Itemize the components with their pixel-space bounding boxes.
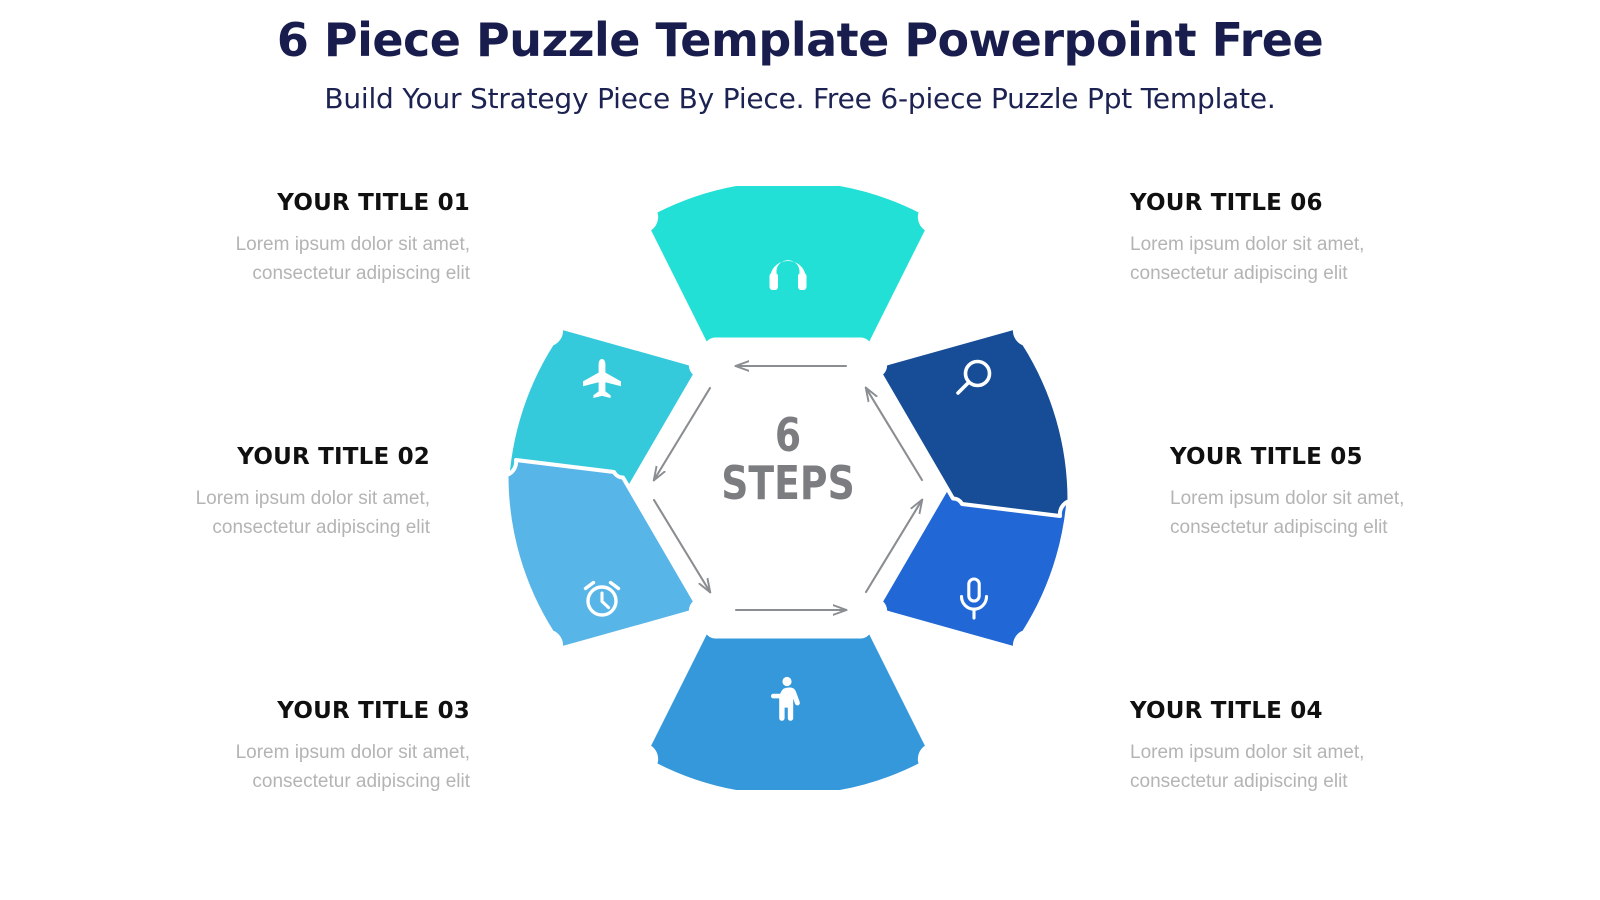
segment-3-title: YOUR TITLE 03 [140,698,470,724]
segment-6-shape[interactable] [881,327,1070,516]
segment-6-title: YOUR TITLE 06 [1130,190,1460,216]
segment-2-label[interactable]: YOUR TITLE 02 Lorem ipsum dolor sit amet… [100,444,430,543]
segment-4-title: YOUR TITLE 04 [1130,698,1460,724]
segment-6-body: Lorem ipsum dolor sit amet, consectetur … [1130,230,1460,289]
segment-4[interactable] [649,631,928,791]
page-subtitle: Build Your Strategy Piece By Piece. Free… [0,81,1600,116]
segment-5-body: Lorem ipsum dolor sit amet, consectetur … [1170,484,1500,543]
segment-3-label[interactable]: YOUR TITLE 03 Lorem ipsum dolor sit amet… [140,698,470,797]
segment-3[interactable] [506,460,695,649]
segment-4-body: Lorem ipsum dolor sit amet, consectetur … [1130,738,1460,797]
header: 6 Piece Puzzle Template Powerpoint Free … [0,14,1600,116]
segment-6[interactable] [881,327,1070,516]
segment-1-title: YOUR TITLE 01 [140,190,470,216]
puzzle-wheel [486,186,1090,790]
segment-5-title: YOUR TITLE 05 [1170,444,1500,470]
slide-canvas: 6 Piece Puzzle Template Powerpoint Free … [0,0,1600,900]
segment-1[interactable] [649,186,928,346]
segment-4-label[interactable]: YOUR TITLE 04 Lorem ipsum dolor sit amet… [1130,698,1460,797]
segment-2-title: YOUR TITLE 02 [100,444,430,470]
puzzle-wheel-svg [486,186,1090,790]
segment-3-body: Lorem ipsum dolor sit amet, consectetur … [140,738,470,797]
segment-1-body: Lorem ipsum dolor sit amet, consectetur … [140,230,470,289]
page-title: 6 Piece Puzzle Template Powerpoint Free [0,14,1600,67]
segment-2-body: Lorem ipsum dolor sit amet, consectetur … [100,484,430,543]
segment-5-label[interactable]: YOUR TITLE 05 Lorem ipsum dolor sit amet… [1170,444,1500,543]
segment-1-shape[interactable] [649,186,928,346]
segment-3-shape[interactable] [506,460,695,649]
cycle-arrows [654,366,922,610]
segment-6-label[interactable]: YOUR TITLE 06 Lorem ipsum dolor sit amet… [1130,190,1460,289]
segment-1-label[interactable]: YOUR TITLE 01 Lorem ipsum dolor sit amet… [140,190,470,289]
